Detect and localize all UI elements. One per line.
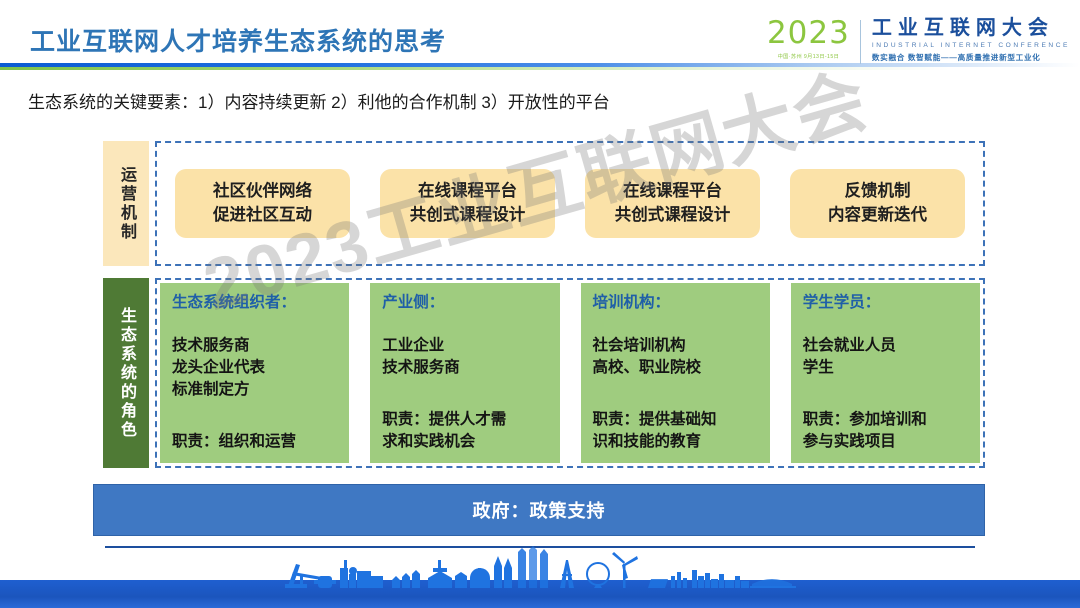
role-duty: 职责：组织和运营 (172, 431, 337, 453)
footer-skyline-band (0, 546, 1080, 608)
ops-card-line1: 在线课程平台 (386, 180, 549, 204)
role-column: 培训机构： 社会培训机构 高校、职业院校 职责：提供基础知 识和技能的教育 (581, 283, 770, 463)
role-duty: 职责：参加培训和 参与实践项目 (803, 409, 968, 453)
government-support-bar: 政府：政策支持 (93, 484, 985, 536)
ops-card-line1: 社区伙伴网络 (181, 180, 344, 204)
role-title: 生态系统组织者： (172, 294, 337, 313)
role-members: 社会就业人员 学生 (803, 335, 968, 379)
ops-card: 社区伙伴网络 促进社区互动 (175, 169, 350, 239)
role-title: 培训机构： (593, 294, 758, 313)
role-column: 产业侧： 工业企业 技术服务商 职责：提供人才需 求和实践机会 (370, 283, 559, 463)
operating-mechanism-cards: 社区伙伴网络 促进社区互动 在线课程平台 共创式课程设计 在线课程平台 共创式课… (157, 143, 983, 264)
ops-card-line2: 共创式课程设计 (591, 204, 754, 228)
role-members: 技术服务商 龙头企业代表 标准制定方 (172, 335, 337, 401)
ecosystem-roles-box: 生态系统组织者： 技术服务商 龙头企业代表 标准制定方 职责：组织和运营 产业侧… (155, 278, 985, 468)
row-label-ecosystem-roles: 生态系统的角色 (103, 278, 149, 468)
ops-card: 在线课程平台 共创式课程设计 (380, 169, 555, 239)
role-title: 产业侧： (382, 294, 547, 313)
role-column: 生态系统组织者： 技术服务商 龙头企业代表 标准制定方 职责：组织和运营 (160, 283, 349, 463)
role-members: 工业企业 技术服务商 (382, 335, 547, 379)
ops-card-line2: 内容更新迭代 (796, 204, 959, 228)
ops-card-line2: 促进社区互动 (181, 204, 344, 228)
role-title: 学生学员： (803, 294, 968, 313)
ops-card-line2: 共创式课程设计 (386, 204, 549, 228)
role-duty: 职责：提供基础知 识和技能的教育 (593, 409, 758, 453)
slide-canvas: 工业互联网人才培养生态系统的思考 2023 中国·苏州 9月13日-15日 工业… (0, 0, 1080, 608)
row-label-operating-mechanism: 运营机制 (103, 141, 149, 266)
role-duty: 职责：提供人才需 求和实践机会 (382, 409, 547, 453)
operating-mechanism-box: 社区伙伴网络 促进社区互动 在线课程平台 共创式课程设计 在线课程平台 共创式课… (155, 141, 985, 266)
ops-card-line1: 反馈机制 (796, 180, 959, 204)
ops-card: 在线课程平台 共创式课程设计 (585, 169, 760, 239)
role-members: 社会培训机构 高校、职业院校 (593, 335, 758, 379)
skyline-illustration (0, 546, 1080, 608)
ops-card-line1: 在线课程平台 (591, 180, 754, 204)
role-column: 学生学员： 社会就业人员 学生 职责：参加培训和 参与实践项目 (791, 283, 980, 463)
ecosystem-diagram: 运营机制 社区伙伴网络 促进社区互动 在线课程平台 共创式课程设计 在线课程平台… (0, 0, 1080, 608)
ops-card: 反馈机制 内容更新迭代 (790, 169, 965, 239)
